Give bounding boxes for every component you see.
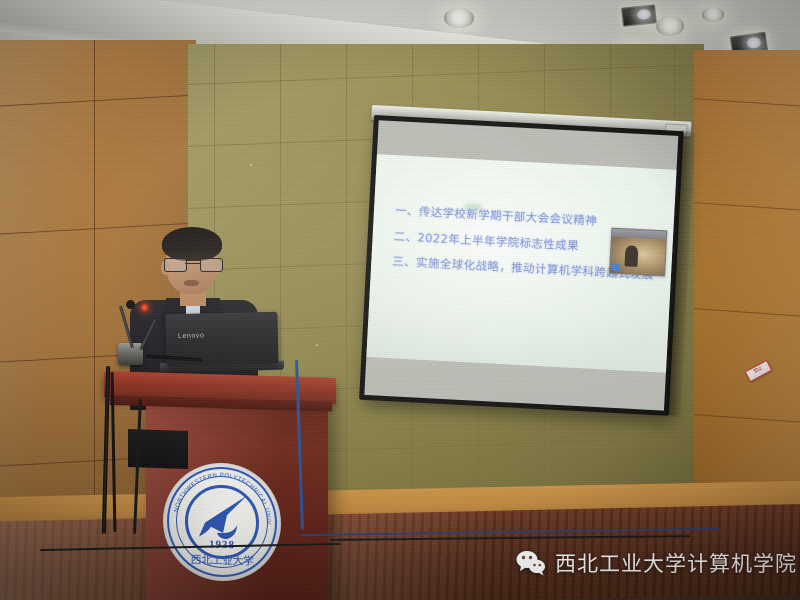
projected-slide: 一、传达学校新学期干部大会会议精神 二、2022年上半年学院标志性成果 三、实施… [366,155,676,373]
emblem-chinese-name: 西北工业大学 [163,551,281,570]
slide-bullet-1: 一、传达学校新学期干部大会会议精神 [395,204,665,231]
glasses-bridge [185,263,200,264]
laptop-brand-label: Lenovo [178,332,205,340]
microphone-status-led [141,304,148,311]
ceiling-downlight [656,16,684,36]
screen-surface: 一、传达学校新学期干部大会会议精神 二、2022年上半年学院标志性成果 三、实施… [364,120,678,410]
screen-frame: 一、传达学校新学期干部大会会议精神 二、2022年上半年学院标志性成果 三、实施… [359,115,683,416]
glasses-icon [164,258,221,271]
wechat-watermark: 西北工业大学计算机学院 [516,548,797,578]
watermark-label: 西北工业大学计算机学院 [555,548,797,578]
wechat-icon [516,550,546,576]
video-inset-badge-icon [612,264,619,271]
microphone-capsule [126,300,135,309]
video-conference-inset[interactable] [609,228,667,277]
glasses-lens-right [200,258,223,272]
emblem-arrow-mark [193,492,251,543]
ceiling-downlight [444,8,474,28]
ceiling-downlight [702,7,724,22]
speaker-mouth [184,280,199,286]
projection-screen: 一、传达学校新学期干部大会会议精神 二、2022年上半年学院标志性成果 三、实施… [359,115,683,416]
video-inset-person [624,245,638,267]
ceiling-spotlight [621,4,657,26]
glasses-lens-left [164,258,187,272]
wall-panel-right [694,50,800,520]
speaker-hair [162,227,222,261]
university-emblem: NORTHWESTERN POLYTECHNICAL UNIVERSITY 19… [163,462,281,583]
photo-scene: 禁止 一、传达学校新学期干部大会会议精神 二、2022年上半年学院标志性成果 三… [0,0,800,600]
